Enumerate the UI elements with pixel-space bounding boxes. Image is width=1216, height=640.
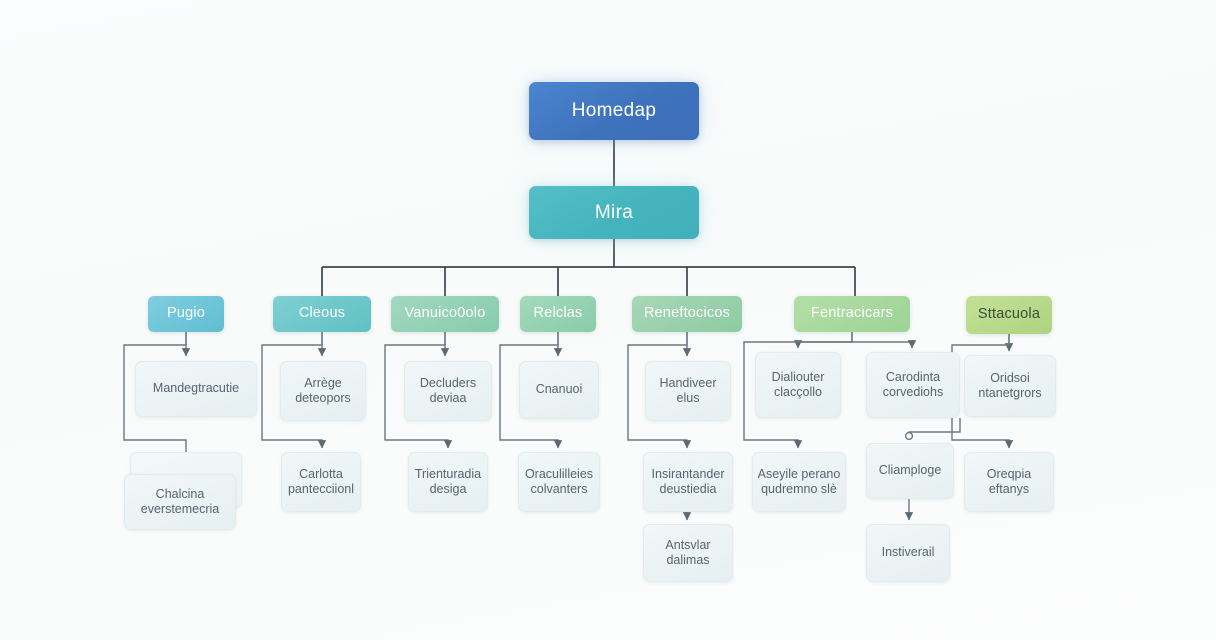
node-level3-label: Dialiouter clacçollo (772, 370, 825, 401)
node-level2-vanuicoolo[interactable]: Vanuico0olo (391, 296, 499, 332)
node-root[interactable]: Homedap (529, 82, 699, 140)
node-level3-antsvlar-dalimas[interactable]: Antsvlar dalimas (643, 524, 733, 582)
node-level2-fentracicars[interactable]: Fentracicars (794, 296, 910, 332)
diagram-canvas: Homedap Mira Pugio Cleous Vanuico0olo Re… (0, 0, 1216, 640)
node-level3-label: Oridsoi ntanetgrors (978, 371, 1041, 402)
node-level3-oreqpia-eftanys[interactable]: Oreqpia eftanys (964, 452, 1054, 512)
node-level3-instiverail[interactable]: Instiverail (866, 524, 950, 582)
node-root-label: Homedap (572, 99, 656, 122)
node-level2-label: Fentracicars (811, 305, 893, 323)
node-level3-arrege-deteopors[interactable]: Arrège deteopors (280, 361, 366, 421)
node-level3-carlotta-pantecciionl[interactable]: Carlotta pantecciionl (281, 452, 361, 512)
edge-carodinta-to-cliamploge (909, 418, 960, 437)
edge-fentracicars-to-dialiouter (798, 332, 852, 348)
node-level3-label: Mandegtracutie (153, 381, 239, 396)
node-level1-mira[interactable]: Mira (529, 186, 699, 239)
node-level2-cleous[interactable]: Cleous (273, 296, 371, 332)
node-level2-label: Reneftocicos (644, 305, 730, 323)
node-level3-decluders-deviaa[interactable]: Decluders deviaa (404, 361, 492, 421)
node-level3-label: Cliamploge (879, 463, 942, 478)
node-level3-label: Cnanuoi (536, 382, 583, 397)
node-level1-label: Mira (595, 201, 633, 224)
edge-endpoint-circle (906, 433, 913, 440)
node-level2-label: Pugio (167, 305, 205, 323)
node-level3-insirantander-deustiedia[interactable]: Insirantander deustiedia (643, 452, 733, 512)
node-level2-label: Relclas (534, 305, 583, 323)
node-level3-chalcina-everstemecria[interactable]: Chalcina everstemecria (124, 474, 236, 530)
node-level2-label: Sttacuola (978, 306, 1040, 324)
node-level3-label: Carlotta pantecciionl (288, 467, 354, 498)
node-level3-label: Oreqpia eftanys (987, 467, 1031, 498)
node-level3-label: Aseyile perano qudremno slè (758, 467, 841, 498)
node-level3-oraculilleies-colvanters[interactable]: Oraculilleies colvanters (518, 452, 600, 512)
node-level3-label: Insirantander deustiedia (652, 467, 725, 498)
node-level3-label: Arrège deteopors (295, 376, 351, 407)
node-level3-label: Carodinta corvediohs (883, 370, 943, 401)
node-level3-oridsoi-ntanetgrors[interactable]: Oridsoi ntanetgrors (964, 355, 1056, 417)
node-level3-label: Decluders deviaa (420, 376, 476, 407)
node-level3-trienturadia-desiga[interactable]: Trienturadia desiga (408, 452, 488, 512)
node-level2-pugio[interactable]: Pugio (148, 296, 224, 332)
node-level3-carodinta-corvediohs[interactable]: Carodinta corvediohs (866, 352, 960, 418)
node-level3-dialiouter-clacollo[interactable]: Dialiouter clacçollo (755, 352, 841, 418)
node-level2-reneftocicos[interactable]: Reneftocicos (632, 296, 742, 332)
node-level2-relclas[interactable]: Relclas (520, 296, 596, 332)
node-level2-sttacuola[interactable]: Sttacuola (966, 296, 1052, 334)
node-level3-label: Chalcina everstemecria (141, 487, 220, 518)
node-level3-label: Handiveer elus (660, 376, 717, 407)
node-level2-label: Vanuico0olo (405, 305, 486, 323)
node-level3-cnanuoi[interactable]: Cnanuoi (519, 361, 599, 419)
node-level2-label: Cleous (299, 305, 345, 323)
node-level3-label: Trienturadia desiga (415, 467, 481, 498)
node-level3-label: Instiverail (882, 545, 935, 560)
node-level3-mandegtracutie[interactable]: Mandegtracutie (135, 361, 257, 417)
node-level3-aseyile-perano[interactable]: Aseyile perano qudremno slè (752, 452, 846, 512)
node-level3-cliamploge[interactable]: Cliamploge (866, 443, 954, 499)
edge-fentracicars-to-carodinta (852, 332, 912, 348)
node-level3-label: Oraculilleies colvanters (525, 467, 593, 498)
node-level3-label: Antsvlar dalimas (665, 538, 710, 569)
node-level3-handiveer-elus[interactable]: Handiveer elus (645, 361, 731, 421)
